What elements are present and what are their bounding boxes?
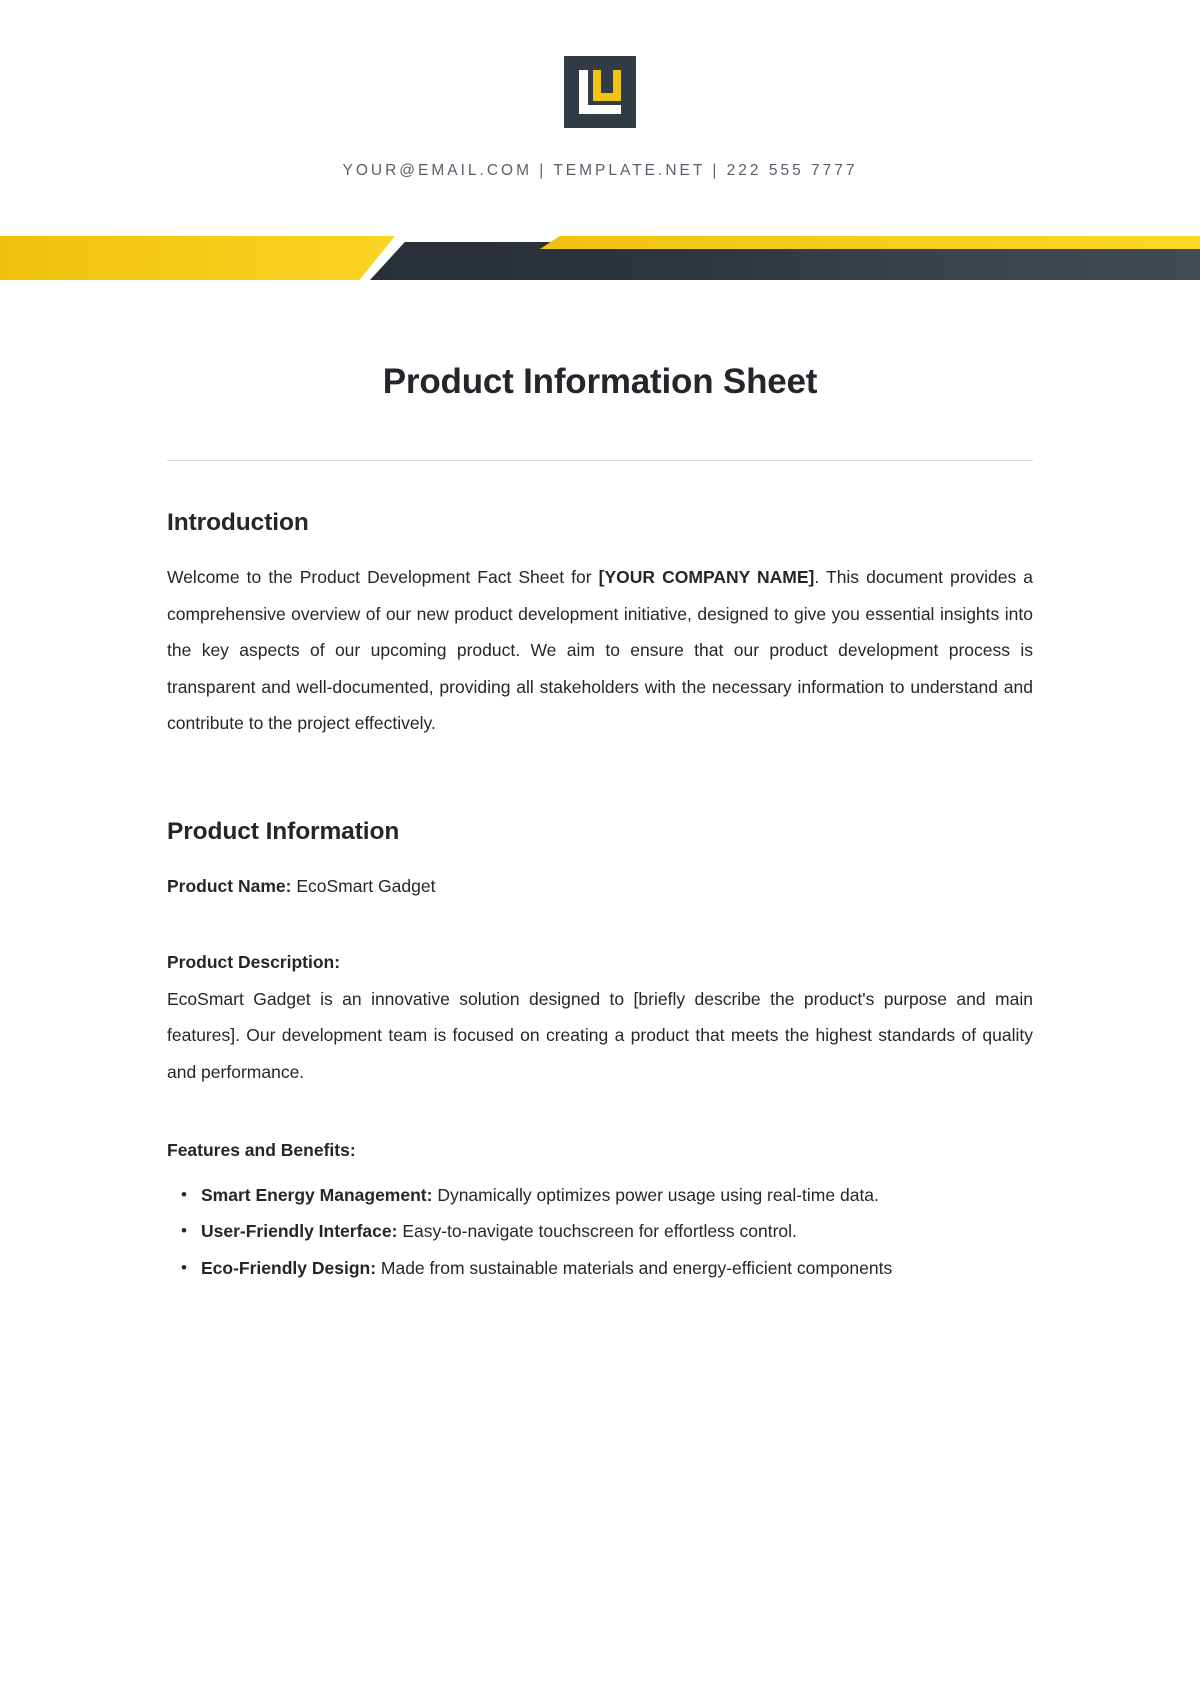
feature-description: Made from sustainable materials and ener… [376,1258,892,1278]
product-name-value: EcoSmart Gadget [291,876,435,896]
features-list: Smart Energy Management: Dynamically opt… [167,1177,1033,1287]
list-item: Smart Energy Management: Dynamically opt… [201,1177,1033,1214]
spacer [167,910,1033,944]
template-lu-logo-icon [564,56,636,128]
introduction-paragraph: Welcome to the Product Development Fact … [167,559,1033,742]
introduction-text-after: . This document provides a comprehensive… [167,567,1033,733]
section-introduction: Introduction Welcome to the Product Deve… [167,509,1033,742]
page-title: Product Information Sheet [0,362,1200,402]
product-name-label: Product Name: [167,876,291,896]
product-description-paragraph: EcoSmart Gadget is an innovative solutio… [167,981,1033,1091]
feature-title: Smart Energy Management: [201,1185,432,1205]
logo-u-shape [593,70,621,101]
features-label-text: Features and Benefits: [167,1140,356,1160]
banner-yellow-right-stripe [540,236,1200,249]
document-header: YOUR@EMAIL.COM | TEMPLATE.NET | 222 555 … [0,0,1200,180]
banner-yellow-left-stripe [0,236,395,280]
section-product-information: Product Information Product Name: EcoSma… [167,818,1033,1287]
feature-title: User-Friendly Interface: [201,1221,397,1241]
product-description-label: Product Description: [167,944,1033,981]
spacer [167,1090,1033,1132]
section-spacer [167,742,1033,818]
features-label: Features and Benefits: [167,1132,1033,1169]
list-item: Eco-Friendly Design: Made from sustainab… [201,1250,1033,1287]
list-item: User-Friendly Interface: Easy-to-navigat… [201,1213,1033,1250]
decorative-banner [0,228,1200,280]
contact-info-line: YOUR@EMAIL.COM | TEMPLATE.NET | 222 555 … [0,162,1200,180]
introduction-text-before: Welcome to the Product Development Fact … [167,567,599,587]
feature-description: Dynamically optimizes power usage using … [432,1185,878,1205]
product-description-label-text: Product Description: [167,952,340,972]
product-information-heading: Product Information [167,818,1033,846]
feature-description: Easy-to-navigate touchscreen for effortl… [397,1221,796,1241]
document-content: Introduction Welcome to the Product Deve… [167,461,1033,1286]
company-name-placeholder: [YOUR COMPANY NAME] [599,567,815,587]
introduction-heading: Introduction [167,509,1033,537]
document-body: Product Information Sheet Introduction W… [0,280,1200,1286]
feature-title: Eco-Friendly Design: [201,1258,376,1278]
product-name-row: Product Name: EcoSmart Gadget [167,868,1033,905]
